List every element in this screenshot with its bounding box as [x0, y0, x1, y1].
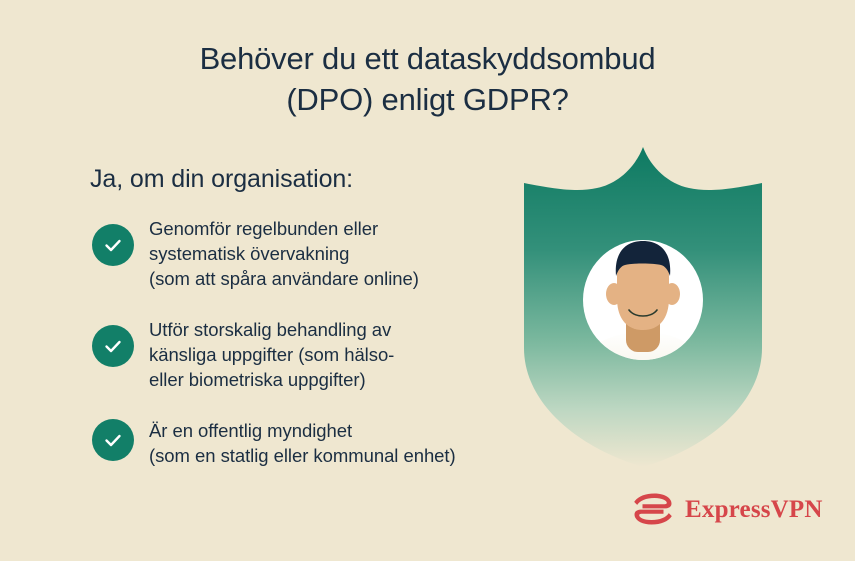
shield-illustration: [513, 142, 773, 472]
check-circle-icon: [92, 224, 134, 266]
infographic-canvas: Behöver du ett dataskyddsombud (DPO) enl…: [0, 0, 855, 561]
page-title: Behöver du ett dataskyddsombud (DPO) enl…: [0, 38, 855, 120]
list-item-line: eller biometriska uppgifter): [149, 367, 394, 392]
list-item-line: Utför storskalig behandling av: [149, 317, 394, 342]
list-item-text: Är en offentlig myndighet (som en statli…: [149, 414, 456, 468]
list-item-line: Är en offentlig myndighet: [149, 418, 456, 443]
list-item-line: (som en statlig eller kommunal enhet): [149, 443, 456, 468]
list-item-line: Genomför regelbunden eller: [149, 216, 419, 241]
check-circle-icon: [92, 419, 134, 461]
list-item: Genomför regelbunden eller systematisk ö…: [92, 212, 522, 291]
list-item-line: systematisk övervakning: [149, 241, 419, 266]
list-item-text: Utför storskalig behandling av känsliga …: [149, 313, 394, 392]
expressvpn-logo: ExpressVPN: [633, 492, 823, 526]
check-circle-icon: [92, 325, 134, 367]
expressvpn-wordmark: ExpressVPN: [685, 497, 823, 522]
list-item-line: känsliga uppgifter (som hälso-: [149, 342, 394, 367]
list-item-text: Genomför regelbunden eller systematisk ö…: [149, 212, 419, 291]
list-item-line: (som att spåra användare online): [149, 266, 419, 291]
expressvpn-e-mark-icon: [633, 492, 673, 526]
title-line-2: (DPO) enligt GDPR?: [0, 79, 855, 120]
list-item: Utför storskalig behandling av känsliga …: [92, 313, 522, 392]
subtitle: Ja, om din organisation:: [90, 163, 353, 195]
criteria-list: Genomför regelbunden eller systematisk ö…: [92, 212, 522, 490]
list-item: Är en offentlig myndighet (som en statli…: [92, 414, 522, 468]
title-line-1: Behöver du ett dataskyddsombud: [0, 38, 855, 79]
